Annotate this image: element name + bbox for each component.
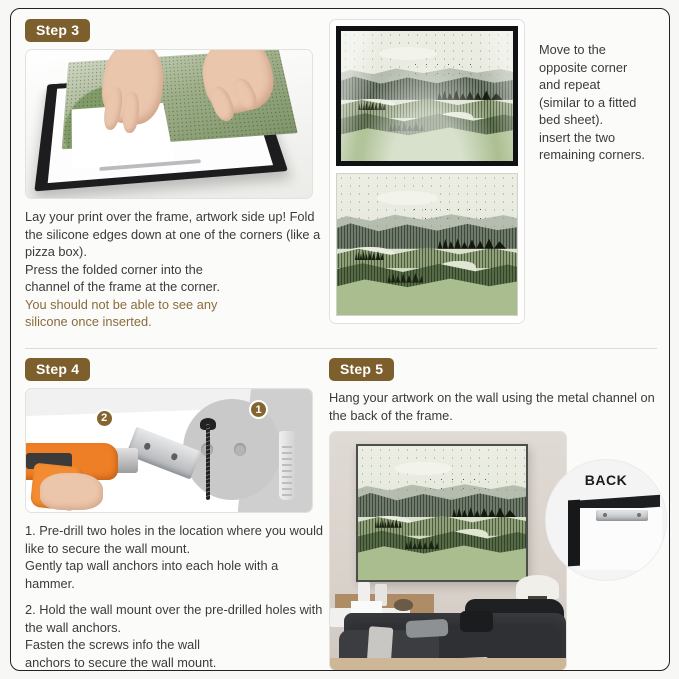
marker-2: 2 (95, 409, 114, 428)
cloud (377, 191, 438, 205)
frame-back-callout: BACK (545, 459, 667, 581)
sofa-pillow (405, 619, 448, 638)
step-5-badge: Step 5 (329, 358, 394, 381)
step-3-photo-seated (336, 173, 518, 316)
step-3-caption-highlight: You should not be able to see any silico… (25, 296, 325, 331)
drilled-hole (234, 443, 247, 456)
step-4-caption-1: 1. Pre-drill two holes in the location w… (25, 522, 325, 592)
step-3-left-column: Step 3 (25, 19, 325, 331)
stacked-books (351, 601, 382, 613)
step-4-column: Step 4 1 2 (25, 358, 325, 671)
frame-fold-illustration (26, 50, 312, 198)
sofa-pillow (460, 611, 493, 632)
instruction-sheet: Step 3 (10, 8, 670, 671)
step-4-photo: 1 2 (25, 388, 313, 513)
step-3-main-photo (25, 49, 313, 199)
step-5-photo (329, 431, 567, 671)
draped-fabric (341, 31, 513, 161)
landscape-artwork (337, 174, 517, 315)
floor (330, 658, 566, 670)
screw (206, 424, 210, 500)
bracket-hole (143, 442, 151, 450)
decor-bowl (394, 599, 413, 611)
back-callout-label: BACK (546, 472, 666, 488)
hand-on-drill (40, 473, 103, 510)
step-3-artwork-photos (329, 19, 525, 324)
bracket-hole (170, 453, 178, 461)
step-4-and-5-section: Step 4 1 2 (11, 350, 670, 671)
step-3-caption: Lay your print over the frame, artwork s… (25, 208, 325, 296)
channel-screw (603, 513, 607, 517)
channel-screw (637, 513, 641, 517)
step-3-badge: Step 3 (25, 19, 90, 42)
frame-edge-left (568, 500, 580, 567)
section-divider (25, 348, 657, 349)
step-5-column: Step 5 Hang your artwork on the wall usi… (329, 358, 659, 671)
living-room-illustration (330, 432, 566, 670)
metal-hanging-channel (596, 510, 648, 521)
drill-illustration: 1 2 (26, 389, 312, 512)
table-lamp (516, 575, 558, 599)
fabric-shading (341, 31, 513, 161)
finger (230, 76, 260, 113)
step-3-section: Step 3 (11, 9, 670, 349)
wall-anchor (279, 431, 295, 500)
step-4-badge: Step 4 (25, 358, 90, 381)
hung-artwork (356, 444, 528, 582)
step-5-caption: Hang your artwork on the wall using the … (329, 389, 659, 424)
step-4-caption-2: 2. Hold the wall mount over the pre-dril… (25, 601, 325, 671)
step-3-right-column: Move to the opposite corner and repeat (… (329, 19, 659, 324)
step-3-side-text: Move to the opposite corner and repeat (… (539, 41, 651, 164)
step-3-photo-draped (336, 26, 518, 166)
landscape-artwork (358, 446, 526, 580)
